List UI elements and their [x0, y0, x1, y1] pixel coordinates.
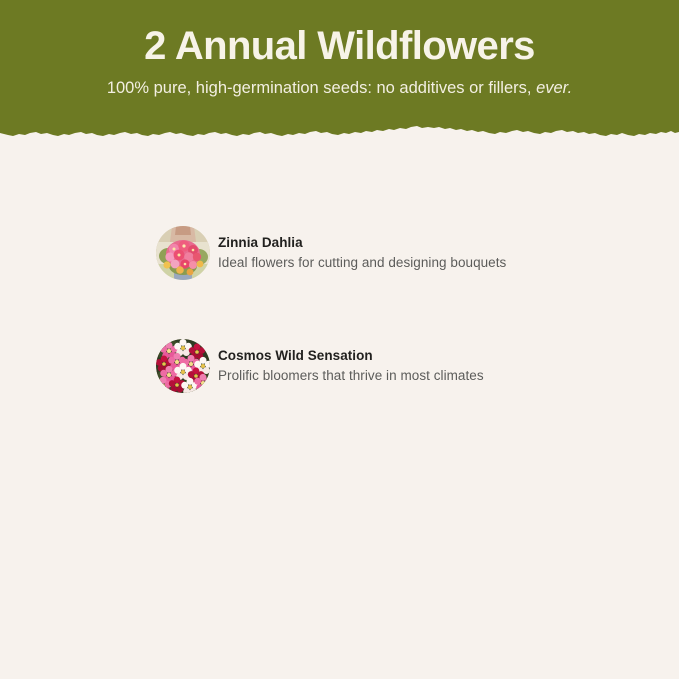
list-item-text: Cosmos Wild Sensation Prolific bloomers …	[218, 346, 484, 385]
product-feature-panel: 2 Annual Wildflowers 100% pure, high-ger…	[0, 0, 679, 679]
list-item-text: Zinnia Dahlia Ideal flowers for cutting …	[218, 233, 506, 272]
page-subtitle: 100% pure, high-germination seeds: no ad…	[0, 66, 679, 97]
list-item-title: Zinnia Dahlia	[218, 233, 506, 253]
cosmos-flowers-artwork	[156, 339, 210, 393]
page-subtitle-emphasis: ever.	[536, 79, 572, 97]
list-item[interactable]: Cosmos Wild Sensation Prolific bloomers …	[156, 339, 484, 393]
cosmos-flowers-photo-icon	[156, 339, 210, 393]
zinnia-bouquet-artwork	[156, 226, 210, 280]
zinnia-bouquet-photo-icon	[156, 226, 210, 280]
list-item-title: Cosmos Wild Sensation	[218, 346, 484, 366]
header-banner: 2 Annual Wildflowers 100% pure, high-ger…	[0, 0, 679, 142]
list-item-description: Prolific bloomers that thrive in most cl…	[218, 366, 484, 386]
banner-text-block: 2 Annual Wildflowers 100% pure, high-ger…	[0, 0, 679, 97]
list-item-description: Ideal flowers for cutting and designing …	[218, 253, 506, 273]
list-item[interactable]: Zinnia Dahlia Ideal flowers for cutting …	[156, 226, 506, 280]
page-subtitle-main: 100% pure, high-germination seeds: no ad…	[107, 79, 532, 97]
page-title: 2 Annual Wildflowers	[0, 0, 679, 66]
